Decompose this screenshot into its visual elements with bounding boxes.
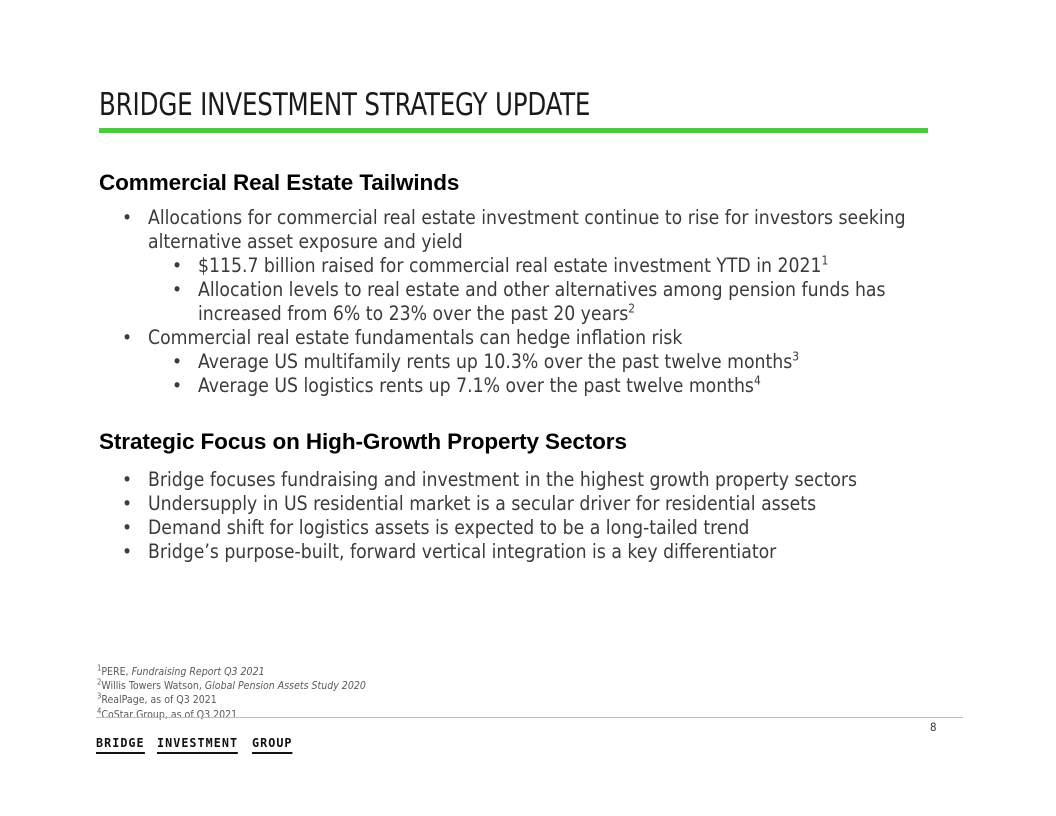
bullet-marker: • bbox=[122, 492, 148, 516]
bullet-text: Average US logistics rents up 7.1% over … bbox=[198, 374, 967, 398]
footer-divider bbox=[96, 717, 963, 718]
footnote-title: Fundraising Report Q3 2021 bbox=[132, 666, 265, 678]
logo-word-group: GROUP bbox=[252, 736, 293, 754]
footnote-list: 1PERE, Fundraising Report Q3 2021 2Willi… bbox=[97, 665, 597, 722]
bullet-text: Allocation levels to real estate and oth… bbox=[198, 278, 967, 326]
bullet-marker: • bbox=[172, 278, 198, 302]
slide-canvas: BRIDGE INVESTMENT STRATEGY UPDATE Commer… bbox=[0, 0, 1056, 816]
bullet-item: • Commercial real estate fundamentals ca… bbox=[99, 326, 979, 350]
footnote-reference: 1 bbox=[821, 254, 828, 268]
footnote-item: 4CoStar Group, as of Q3 2021 bbox=[97, 708, 597, 722]
bullet-item: • Bridge’s purpose-built, forward vertic… bbox=[99, 540, 979, 564]
bullet-text: Undersupply in US residential market is … bbox=[148, 492, 967, 516]
bullet-marker: • bbox=[122, 468, 148, 492]
footnote-item: 3RealPage, as of Q3 2021 bbox=[97, 693, 597, 707]
footnote-reference: 2 bbox=[628, 302, 635, 316]
footnote-source: Willis Towers Watson, bbox=[101, 680, 204, 692]
bullet-text: Average US multifamily rents up 10.3% ov… bbox=[198, 350, 967, 374]
bullet-item: • Bridge focuses fundraising and investm… bbox=[99, 468, 979, 492]
page-title: BRIDGE INVESTMENT STRATEGY UPDATE bbox=[99, 86, 829, 124]
bullet-text: Commercial real estate fundamentals can … bbox=[148, 326, 967, 350]
footnote-source: RealPage, as of Q3 2021 bbox=[101, 694, 216, 706]
bullet-item: • $115.7 billion raised for commercial r… bbox=[99, 254, 979, 278]
bullet-list-strategic-focus: • Bridge focuses fundraising and investm… bbox=[99, 468, 979, 564]
footnote-reference: 4 bbox=[754, 374, 761, 388]
footnote-source: CoStar Group, as of Q3 2021 bbox=[101, 709, 237, 721]
footnote-source: PERE, bbox=[101, 666, 131, 678]
footnote-reference: 3 bbox=[792, 350, 799, 364]
title-accent-rule bbox=[99, 128, 928, 133]
bullet-text: Bridge’s purpose-built, forward vertical… bbox=[148, 540, 967, 564]
bullet-item: • Allocations for commercial real estate… bbox=[99, 206, 979, 254]
bullet-marker: • bbox=[172, 374, 198, 398]
bullet-marker: • bbox=[122, 326, 148, 350]
bullet-item: • Allocation levels to real estate and o… bbox=[99, 278, 979, 326]
logo-word-investment: INVESTMENT bbox=[157, 736, 238, 754]
brand-logo: BRIDGE INVESTMENT GROUP bbox=[96, 736, 295, 754]
bullet-marker: • bbox=[172, 350, 198, 374]
bullet-marker: • bbox=[122, 206, 148, 230]
footnote-title: Global Pension Assets Study 2020 bbox=[205, 680, 366, 692]
bullet-item: • Average US multifamily rents up 10.3% … bbox=[99, 350, 979, 374]
bullet-item: • Undersupply in US residential market i… bbox=[99, 492, 979, 516]
page-number: 8 bbox=[930, 720, 970, 734]
section-heading-strategic-focus-on-high-growth-property-sectors: Strategic Focus on High-Growth Property … bbox=[99, 429, 627, 455]
bullet-marker: • bbox=[172, 254, 198, 278]
footnote-item: 1PERE, Fundraising Report Q3 2021 bbox=[97, 665, 597, 679]
bullet-text: Allocations for commercial real estate i… bbox=[148, 206, 967, 254]
bullet-text: Demand shift for logistics assets is exp… bbox=[148, 516, 967, 540]
bullet-marker: • bbox=[122, 516, 148, 540]
bullet-item: • Demand shift for logistics assets is e… bbox=[99, 516, 979, 540]
slide-title-block: BRIDGE INVESTMENT STRATEGY UPDATE bbox=[99, 86, 929, 124]
logo-word-bridge: BRIDGE bbox=[96, 736, 145, 754]
bullet-item: • Average US logistics rents up 7.1% ove… bbox=[99, 374, 979, 398]
bullet-list-commercial-real-estate-tailwinds: • Allocations for commercial real estate… bbox=[99, 206, 979, 398]
bullet-marker: • bbox=[122, 540, 148, 564]
section-heading-commercial-real-estate-tailwinds: Commercial Real Estate Tailwinds bbox=[99, 170, 459, 196]
bullet-text: $115.7 billion raised for commercial rea… bbox=[198, 254, 967, 278]
bullet-text: Bridge focuses fundraising and investmen… bbox=[148, 468, 967, 492]
footnote-item: 2Willis Towers Watson, Global Pension As… bbox=[97, 679, 597, 693]
